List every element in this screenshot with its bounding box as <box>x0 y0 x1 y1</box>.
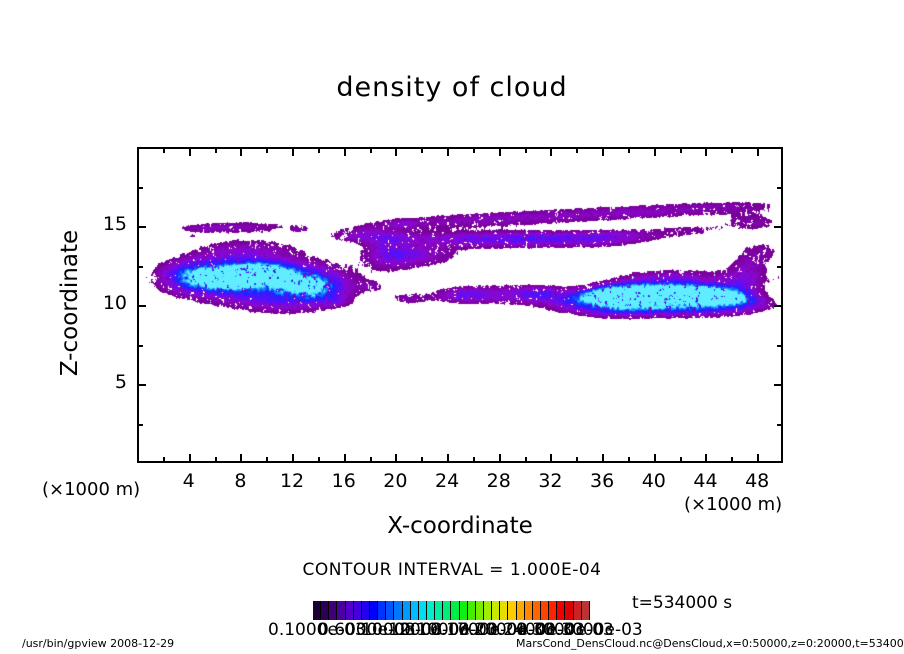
y-tick-label: 15 <box>79 213 127 235</box>
x-tick-label: 12 <box>270 470 314 492</box>
colorbar-swatch <box>394 601 401 620</box>
colorbar-swatch <box>411 601 418 620</box>
colorbar-swatch <box>427 601 434 620</box>
colorbar-swatch <box>500 601 507 620</box>
colorbar-swatch <box>435 601 442 620</box>
footer-dataset-label: MarsCond_DensCloud.nc@DensCloud,x=0:5000… <box>516 637 904 650</box>
colorbar-swatch <box>525 601 532 620</box>
colorbar-swatch <box>468 601 475 620</box>
colorbar-swatch <box>354 601 361 620</box>
colorbar-swatch <box>346 601 353 620</box>
plot-frame <box>137 147 783 463</box>
colorbar-swatch <box>574 601 581 620</box>
x-tick-label: 44 <box>683 470 727 492</box>
time-label: t=534000 s <box>632 593 732 613</box>
colorbar-swatch <box>313 601 320 620</box>
colorbar-swatch <box>321 601 328 620</box>
x-tick-label: 48 <box>735 470 779 492</box>
x-tick-label: 20 <box>373 470 417 492</box>
colorbar-swatch <box>362 601 369 620</box>
x-tick-label: 36 <box>580 470 624 492</box>
x-tick-label: 32 <box>528 470 572 492</box>
x-unit-left-label: (×1000 m) <box>42 479 140 500</box>
contour-interval-label: CONTOUR INTERVAL = 1.000E-04 <box>0 560 904 580</box>
y-axis-title: Z-coordinate <box>57 173 83 433</box>
colorbar <box>313 601 590 620</box>
colorbar-swatch <box>460 601 467 620</box>
x-axis-title: X-coordinate <box>137 513 783 539</box>
colorbar-swatch <box>508 601 515 620</box>
colorbar-swatch <box>582 601 589 620</box>
contour-plot-canvas <box>139 149 781 461</box>
colorbar-swatch <box>517 601 524 620</box>
colorbar-swatch <box>337 601 344 620</box>
y-tick-label: 5 <box>79 371 127 393</box>
colorbar-swatch <box>419 601 426 620</box>
colorbar-swatch <box>557 601 564 620</box>
x-tick-label: 8 <box>218 470 262 492</box>
x-tick-label: 28 <box>477 470 521 492</box>
colorbar-swatch <box>565 601 572 620</box>
x-tick-label: 24 <box>425 470 469 492</box>
footer-command-label: /usr/bin/gpview 2008-12-29 <box>22 637 174 650</box>
colorbar-swatch <box>541 601 548 620</box>
colorbar-swatch <box>451 601 458 620</box>
colorbar-swatch <box>549 601 556 620</box>
x-tick-label: 4 <box>167 470 211 492</box>
colorbar-swatch <box>443 601 450 620</box>
colorbar-swatch <box>329 601 336 620</box>
colorbar-swatch <box>533 601 540 620</box>
colorbar-swatch <box>386 601 393 620</box>
x-tick-label: 40 <box>632 470 676 492</box>
page-title: density of cloud <box>0 72 904 103</box>
x-unit-right-label: (×1000 m) <box>684 494 782 515</box>
colorbar-swatch <box>484 601 491 620</box>
colorbar-swatch <box>370 601 377 620</box>
colorbar-swatch <box>378 601 385 620</box>
colorbar-swatch <box>403 601 410 620</box>
colorbar-swatch <box>476 601 483 620</box>
x-tick-label: 16 <box>322 470 366 492</box>
colorbar-swatch <box>492 601 499 620</box>
y-tick-label: 10 <box>79 292 127 314</box>
